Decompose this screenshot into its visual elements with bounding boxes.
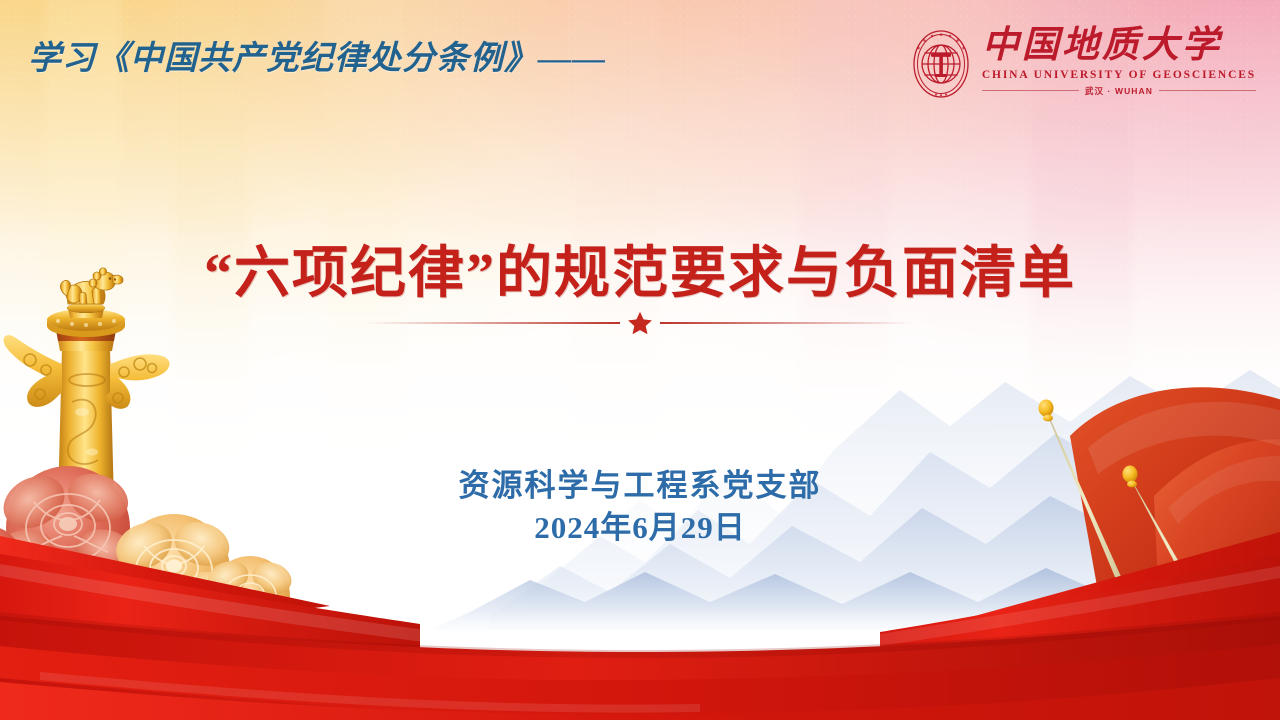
campus-rule-right <box>1159 90 1256 91</box>
campus-label-row: 武汉 · WUHAN <box>982 85 1256 97</box>
campus-label: 武汉 · WUHAN <box>1085 85 1153 97</box>
slide-title: “六项纪律”的规范要求与负面清单 <box>0 228 1280 309</box>
cug-globe-seal-emblem <box>910 28 972 100</box>
title-divider <box>340 310 940 336</box>
divider-line-right <box>660 322 915 324</box>
five-pointed-star-icon <box>627 310 653 336</box>
university-name-cn: 中国地质大学 <box>982 26 1256 66</box>
slide-header-text: 学习《中国共产党纪律处分条例》—— <box>28 31 606 79</box>
logo-text-block: 中国地质大学 CHINA UNIVERSITY OF GEOSCIENCES 武… <box>982 26 1256 97</box>
red-ribbon-waves <box>0 520 1280 720</box>
university-logo: 中国地质大学 CHINA UNIVERSITY OF GEOSCIENCES 武… <box>910 26 1256 100</box>
presentation-slide: 学习《中国共产党纪律处分条例》—— <box>0 0 1280 720</box>
campus-rule-left <box>982 90 1079 91</box>
university-name-en: CHINA UNIVERSITY OF GEOSCIENCES <box>982 69 1256 81</box>
divider-line-left <box>365 322 620 324</box>
